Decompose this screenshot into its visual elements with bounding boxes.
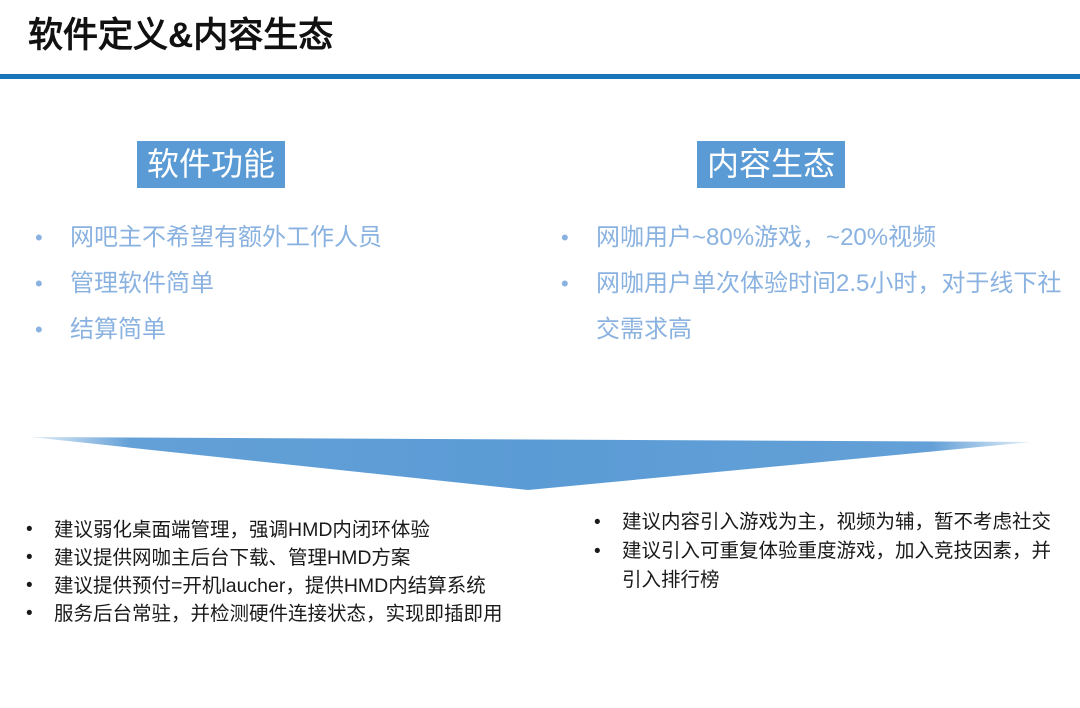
title-area: 软件定义&内容生态: [0, 0, 1080, 80]
list-item-label: 管理软件简单: [70, 261, 526, 307]
bullet-marker-icon: •: [26, 215, 70, 261]
bullet-marker-icon: •: [586, 508, 622, 537]
list-item-label: 建议内容引入游戏为主，视频为辅，暂不考虑社交: [622, 508, 1066, 537]
list-item: • 服务后台常驻，并检测硬件连接状态，实现即插即用: [20, 600, 580, 628]
list-item-label: 建议提供预付=开机laucher，提供HMD内结算系统: [54, 572, 580, 600]
conclusion-list-left: • 建议弱化桌面端管理，强调HMD内闭环体验 • 建议提供网咖主后台下载、管理H…: [20, 516, 580, 628]
bullet-marker-icon: •: [20, 516, 54, 544]
list-item: • 管理软件简单: [26, 261, 526, 307]
list-item: • 网吧主不希望有额外工作人员: [26, 215, 526, 261]
down-arrow-container: [0, 430, 1080, 500]
list-item-label: 建议弱化桌面端管理，强调HMD内闭环体验: [54, 516, 580, 544]
bullet-marker-icon: •: [586, 537, 622, 566]
bullet-marker-icon: •: [20, 600, 54, 628]
down-arrow-icon: [0, 430, 1080, 500]
list-item: • 网咖用户单次体验时间2.5小时，对于线下社交需求高: [552, 261, 1062, 353]
list-item: • 建议弱化桌面端管理，强调HMD内闭环体验: [20, 516, 580, 544]
upper-bullet-list-right: • 网咖用户~80%游戏，~20%视频 • 网咖用户单次体验时间2.5小时，对于…: [552, 215, 1062, 353]
list-item-label: 网咖用户~80%游戏，~20%视频: [596, 215, 1062, 261]
list-item: • 建议提供预付=开机laucher，提供HMD内结算系统: [20, 572, 580, 600]
list-item: • 建议内容引入游戏为主，视频为辅，暂不考虑社交: [586, 508, 1066, 537]
bullet-marker-icon: •: [26, 261, 70, 307]
bullet-marker-icon: •: [552, 261, 596, 307]
slide-root: 软件定义&内容生态 软件功能 内容生态 • 网吧主不希望有额外工作人员 • 管理…: [0, 0, 1080, 708]
list-item-label: 网咖用户单次体验时间2.5小时，对于线下社交需求高: [596, 261, 1062, 353]
list-item: • 建议提供网咖主后台下载、管理HMD方案: [20, 544, 580, 572]
list-item: • 网咖用户~80%游戏，~20%视频: [552, 215, 1062, 261]
list-item-label: 建议提供网咖主后台下载、管理HMD方案: [54, 544, 580, 572]
bullet-marker-icon: •: [20, 572, 54, 600]
title-divider: [0, 74, 1080, 79]
list-item: • 建议引入可重复体验重度游戏，加入竞技因素，并引入排行榜: [586, 537, 1066, 595]
bullet-marker-icon: •: [552, 215, 596, 261]
page-title: 软件定义&内容生态: [28, 13, 333, 59]
list-item-label: 网吧主不希望有额外工作人员: [70, 215, 526, 261]
section-header-content-ecosystem: 内容生态: [697, 141, 845, 188]
bullet-marker-icon: •: [20, 544, 54, 572]
list-item-label: 建议引入可重复体验重度游戏，加入竞技因素，并引入排行榜: [622, 537, 1066, 595]
list-item-label: 服务后台常驻，并检测硬件连接状态，实现即插即用: [54, 600, 580, 628]
list-item: • 结算简单: [26, 307, 526, 353]
section-header-software-function: 软件功能: [137, 141, 285, 188]
upper-bullet-list-left: • 网吧主不希望有额外工作人员 • 管理软件简单 • 结算简单: [26, 215, 526, 353]
list-item-label: 结算简单: [70, 307, 526, 353]
conclusion-list-right: • 建议内容引入游戏为主，视频为辅，暂不考虑社交 • 建议引入可重复体验重度游戏…: [586, 508, 1066, 595]
bullet-marker-icon: •: [26, 307, 70, 353]
